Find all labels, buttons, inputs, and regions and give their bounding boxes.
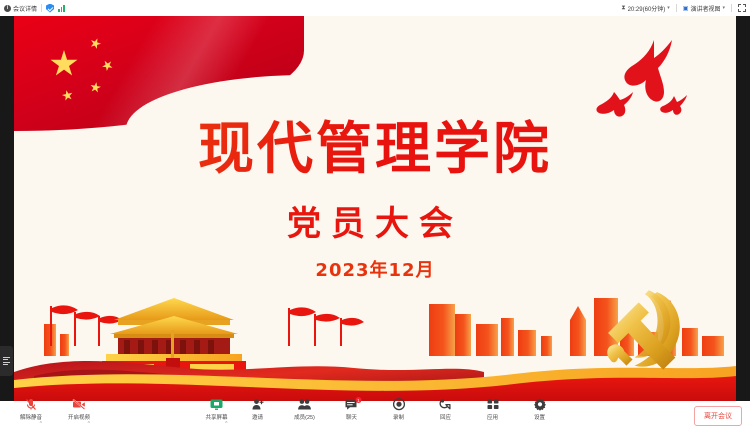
mic-toggle-button[interactable]: 解除静音 ^: [8, 398, 42, 430]
top-bar: i 会议详情 ⧗ 20:29(60分钟) ▾ ▣ 演讲者视图 ▾: [0, 0, 750, 16]
chevron-down-icon[interactable]: ▾: [722, 5, 725, 11]
invite-button[interactable]: 邀请: [241, 398, 275, 421]
record-button[interactable]: 录制: [382, 398, 416, 421]
share-screen-label: 共享屏幕: [205, 413, 227, 421]
chevron-up-icon[interactable]: ^: [88, 421, 90, 427]
fullscreen-icon[interactable]: [738, 4, 746, 12]
shield-icon[interactable]: [46, 4, 54, 13]
info-icon: i: [4, 5, 11, 12]
chat-label: 聊天: [346, 413, 357, 421]
apps-button[interactable]: 应用: [476, 398, 510, 421]
participants-icon: [298, 398, 312, 411]
video-toggle-label: 开启视频: [68, 413, 90, 421]
top-bar-left: i 会议详情: [4, 4, 65, 13]
slide-subtitle: 党员大会: [14, 196, 736, 245]
settings-label: 设置: [534, 413, 545, 421]
view-mode-label: 演讲者视图: [690, 4, 720, 13]
dove-large: [624, 40, 672, 102]
signal-bars-icon[interactable]: [58, 4, 65, 12]
bottom-toolbar: 解除静音 ^ 开启视频 ^: [0, 401, 750, 430]
cpc-hammer-sickle-emblem: [607, 290, 680, 370]
meeting-timer[interactable]: ⧗ 20:29(60分钟) ▾: [621, 4, 669, 13]
side-panel-toggle[interactable]: [0, 346, 13, 376]
divider: [676, 4, 677, 12]
settings-button[interactable]: 设置: [523, 398, 557, 421]
video-off-icon: [72, 398, 86, 411]
bottom-right-controls: 离开会议: [694, 405, 750, 426]
gear-icon: [533, 398, 546, 411]
apps-label: 应用: [487, 413, 498, 421]
meeting-detail-label: 会议详情: [13, 4, 37, 13]
share-screen-button[interactable]: 共享屏幕 ^: [194, 398, 228, 430]
divider: [41, 4, 42, 12]
slide-title: 现代管理学院: [14, 104, 736, 185]
top-bar-right: ⧗ 20:29(60分钟) ▾ ▣ 演讲者视图 ▾: [621, 4, 746, 13]
reaction-button[interactable]: 回应: [429, 398, 463, 421]
chevron-up-icon[interactable]: ^: [40, 421, 42, 427]
divider: [731, 4, 732, 12]
mic-muted-icon: [25, 398, 37, 411]
meeting-detail-button[interactable]: i 会议详情: [4, 4, 37, 13]
screen-icon: ▣: [683, 5, 689, 12]
invite-person-icon: [251, 398, 264, 411]
video-toggle-button[interactable]: 开启视频 ^: [56, 398, 90, 430]
chat-unread-badge: 1: [356, 397, 362, 403]
participants-label: 成员(25): [294, 413, 315, 421]
view-mode-selector[interactable]: ▣ 演讲者视图 ▾: [683, 4, 725, 13]
panel-list-icon: [3, 355, 10, 367]
leave-meeting-button[interactable]: 离开会议: [694, 406, 742, 426]
participants-button[interactable]: 成员(25): [288, 398, 322, 421]
right-flag-row: [288, 307, 364, 346]
bottom-center-controls: 共享屏幕 ^ 邀请: [194, 398, 557, 430]
timer-label: 20:29(60分钟): [628, 4, 666, 13]
chevron-up-icon[interactable]: ^: [225, 421, 227, 427]
invite-label: 邀请: [252, 413, 263, 421]
bottom-left-controls: 解除静音 ^ 开启视频 ^: [0, 398, 90, 430]
chat-button[interactable]: 1 聊天: [335, 398, 369, 421]
hourglass-icon: ⧗: [621, 5, 625, 12]
slide-bottom-scene: [14, 276, 736, 401]
share-screen-icon: [209, 398, 223, 411]
apps-grid-icon: [486, 398, 499, 411]
record-icon: [392, 398, 405, 411]
record-label: 录制: [393, 413, 404, 421]
mic-toggle-label: 解除静音: [20, 413, 42, 421]
reaction-icon: [439, 398, 453, 411]
chevron-down-icon[interactable]: ▾: [667, 5, 670, 11]
meeting-stage: 现代管理学院 党员大会 2023年12月: [0, 16, 750, 401]
reaction-label: 回应: [440, 413, 451, 421]
shared-slide: 现代管理学院 党员大会 2023年12月: [14, 16, 736, 401]
